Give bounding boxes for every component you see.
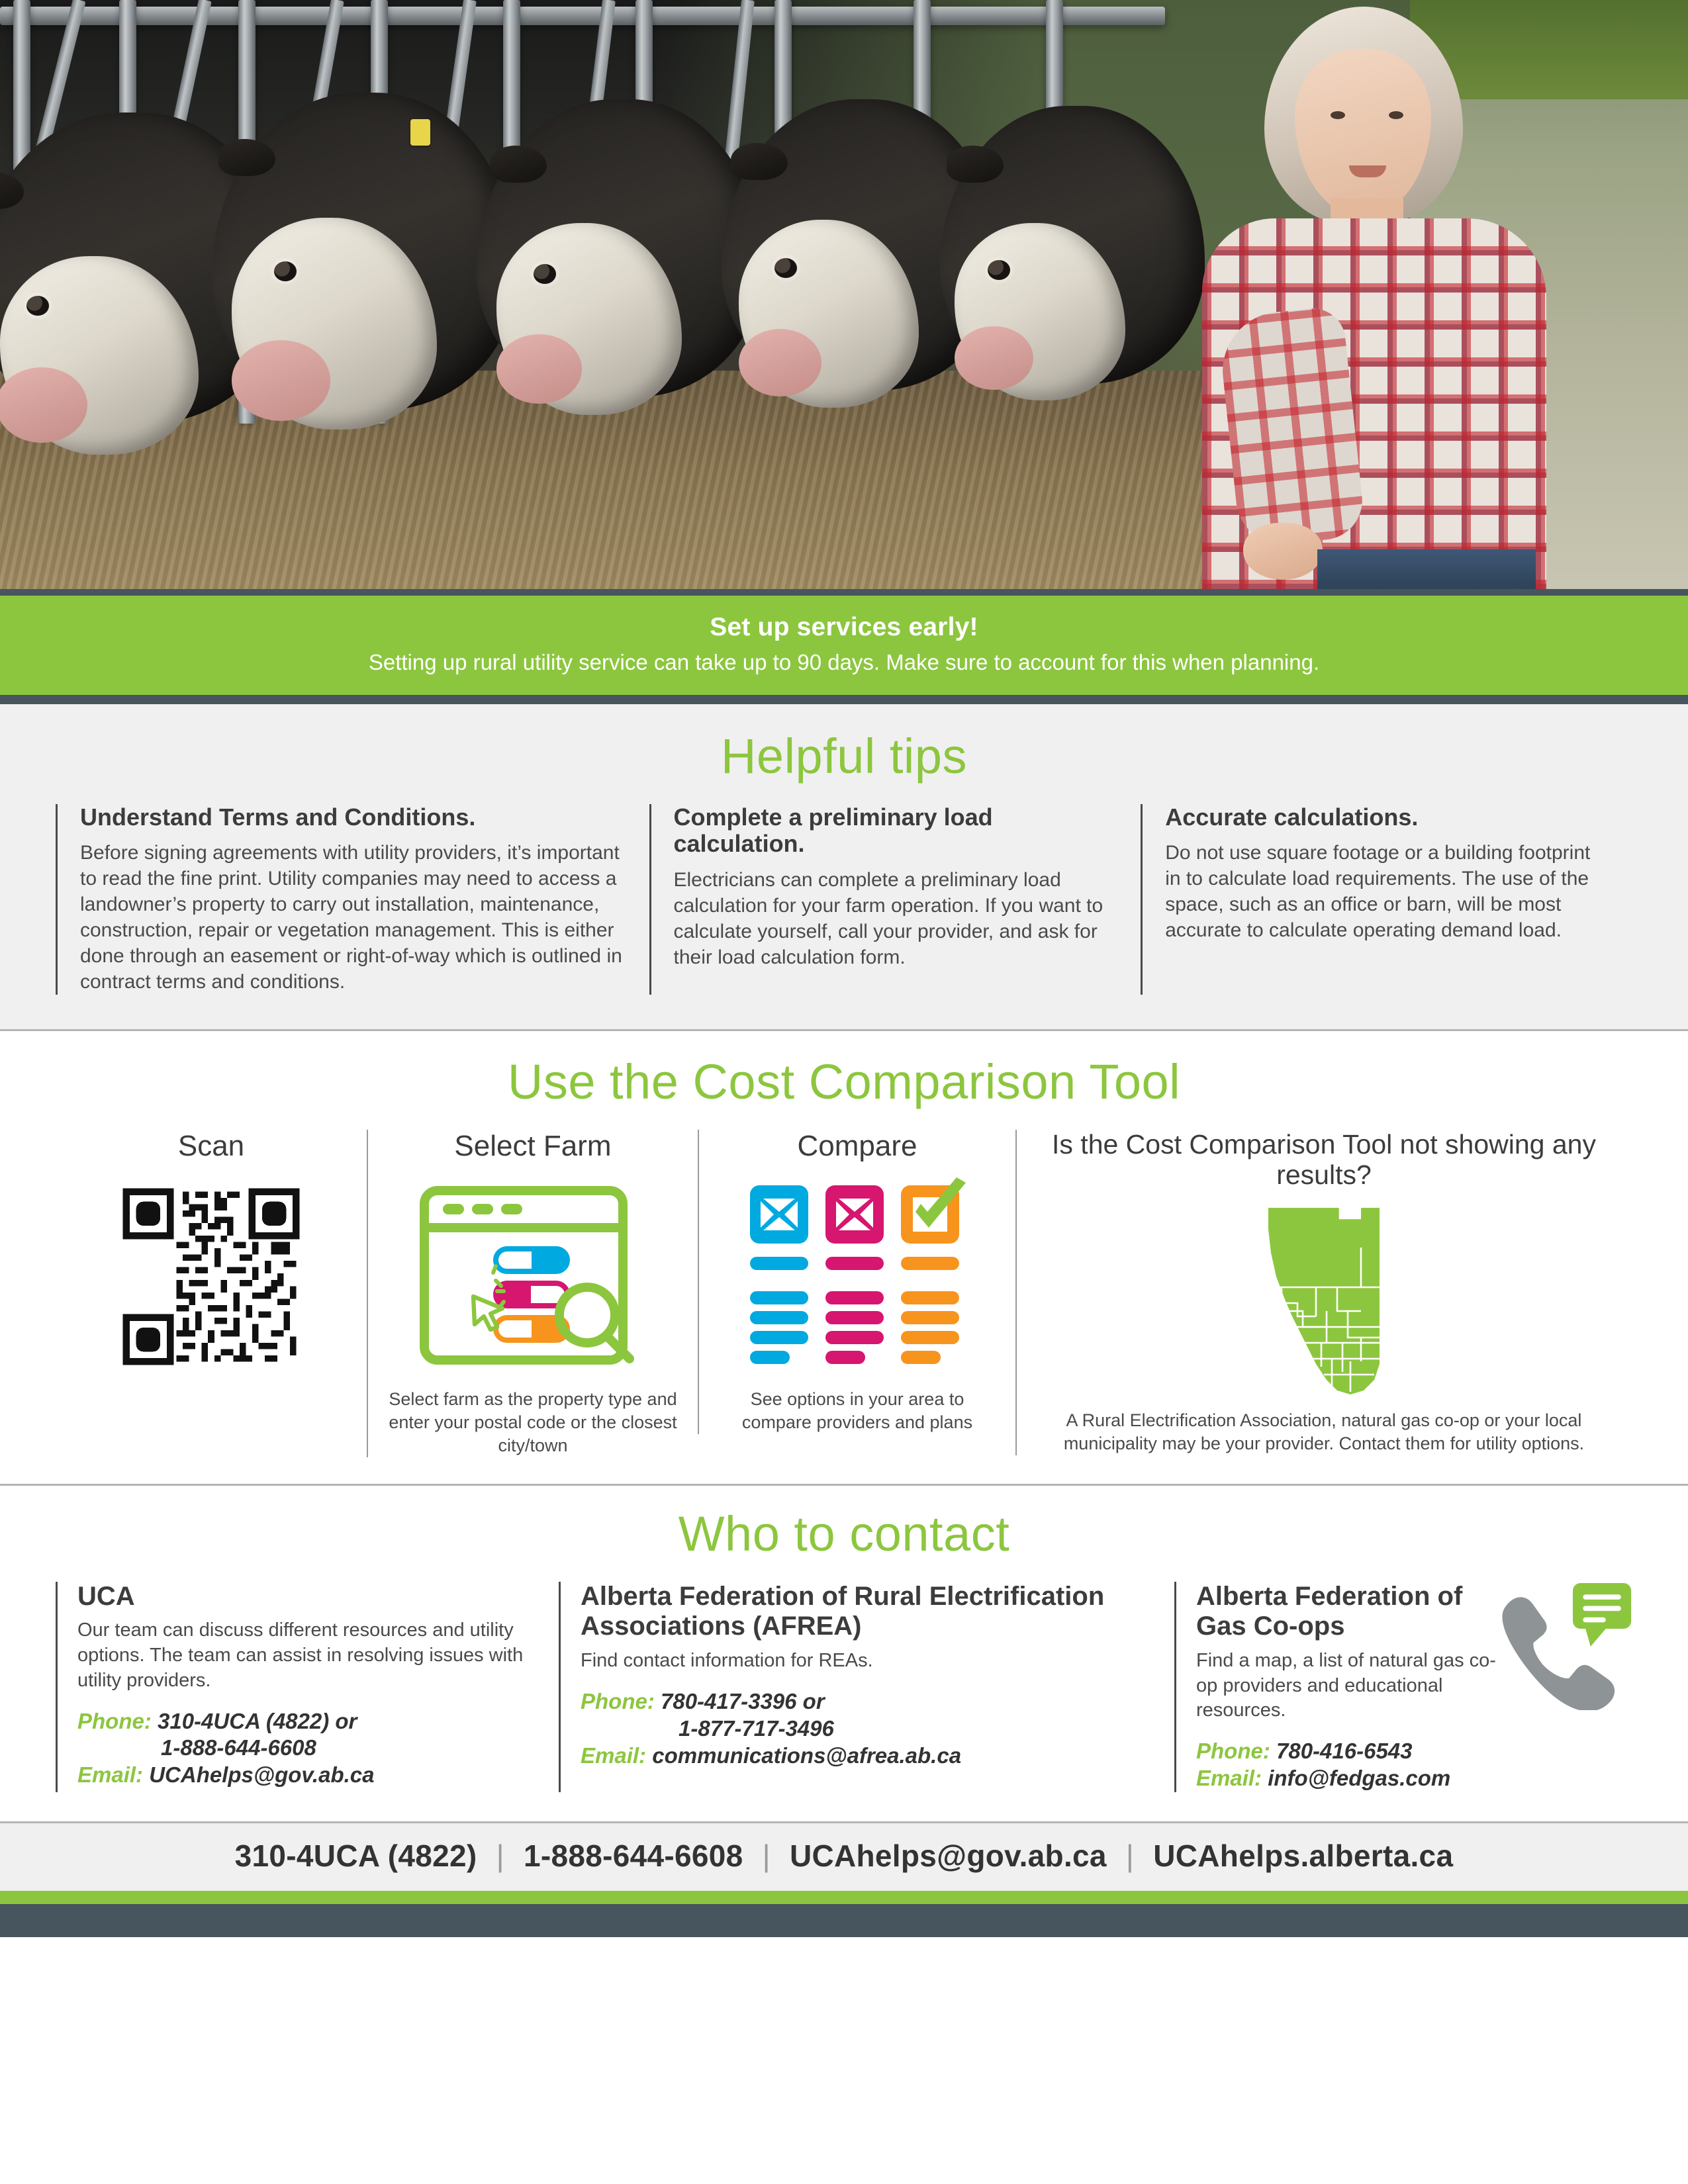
who-to-contact-title: Who to contact <box>0 1506 1688 1562</box>
email-value[interactable]: UCAhelps@gov.ab.ca <box>149 1762 374 1787</box>
eye-right <box>1389 111 1403 119</box>
footer-phone-local[interactable]: 310-4UCA (4822) <box>235 1839 477 1873</box>
step-heading: Select Farm <box>385 1130 680 1162</box>
cost-comparison-title: Use the Cost Comparison Tool <box>0 1054 1688 1110</box>
footer-email[interactable]: UCAhelps@gov.ab.ca <box>790 1839 1107 1873</box>
footer-phone-toll[interactable]: 1-888-644-6608 <box>524 1839 743 1873</box>
email-label: Email: <box>77 1762 143 1787</box>
step-no-results: Is the Cost Comparison Tool not showing … <box>1015 1130 1631 1455</box>
contact-email-line: Email: communications@afrea.ab.ca <box>581 1743 1154 1770</box>
step-caption: Select farm as the property type and ent… <box>385 1388 680 1457</box>
step-compare: Compare <box>698 1130 1015 1433</box>
contact-body: Find contact information for REAs. <box>581 1649 1154 1674</box>
email-label: Email: <box>581 1743 646 1768</box>
browser-sliders-search-icon[interactable] <box>414 1177 652 1376</box>
step-heading: Is the Cost Comparison Tool not showing … <box>1034 1130 1614 1191</box>
tip-body: Before signing agreements with utility p… <box>80 840 627 995</box>
tip-heading: Accurate calculations. <box>1165 804 1610 831</box>
helpful-tips-section: Helpful tips Understand Terms and Condit… <box>0 704 1688 1031</box>
tip-heading: Complete a preliminary load calculation. <box>674 804 1119 858</box>
contact-email-line: Email: info@fedgas.com <box>1196 1765 1611 1792</box>
contact-phone-line-2: 1-888-644-6608 <box>77 1735 539 1762</box>
step-scan: Scan <box>56 1130 367 1375</box>
callout-subtitle: Setting up rural utility service can tak… <box>40 650 1648 675</box>
tip-card-accurate-calculations: Accurate calculations. Do not use square… <box>1141 804 1632 995</box>
footer-green-stripe <box>0 1891 1688 1904</box>
tip-card-load-calculation: Complete a preliminary load calculation.… <box>649 804 1141 995</box>
step-heading: Scan <box>73 1130 350 1162</box>
step-caption: A Rural Electrification Association, nat… <box>1034 1409 1614 1455</box>
contact-body: Find a map, a list of natural gas co-op … <box>1196 1649 1507 1723</box>
helpful-tips-title: Helpful tips <box>0 728 1688 784</box>
farmer-person <box>1165 0 1589 589</box>
alberta-map-icon <box>1258 1205 1390 1397</box>
footer-dark-stripe <box>0 1904 1688 1937</box>
cow <box>212 93 516 410</box>
contact-phone-line: Phone: 780-417-3396 or <box>581 1688 1154 1715</box>
tip-heading: Understand Terms and Conditions. <box>80 804 627 831</box>
email-value[interactable]: info@fedgas.com <box>1268 1766 1450 1790</box>
phone-chat-icon <box>1481 1578 1634 1710</box>
phone-value[interactable]: 310-4UCA (4822) or <box>158 1709 357 1733</box>
step-select-farm: Select Farm <box>367 1130 698 1457</box>
jeans <box>1317 549 1536 589</box>
checkbox-comparison-icon[interactable] <box>745 1177 970 1376</box>
contact-phone-line: Phone: 310-4UCA (4822) or <box>77 1708 539 1735</box>
footer-separator: | <box>752 1839 781 1873</box>
contact-body: Our team can discuss different resources… <box>77 1618 539 1693</box>
tip-body: Electricians can complete a preliminary … <box>674 867 1119 970</box>
phone-value[interactable]: 780-416-6543 <box>1276 1739 1413 1763</box>
phone-label: Phone: <box>77 1709 152 1733</box>
eye-left <box>1331 111 1345 119</box>
phone-value-secondary[interactable]: 1-888-644-6608 <box>161 1735 316 1760</box>
hand <box>1243 523 1323 580</box>
contact-phone-line-2: 1-877-717-3496 <box>581 1715 1154 1743</box>
step-heading: Compare <box>716 1130 998 1162</box>
contact-card-gas-coops: Alberta Federation of Gas Co-ops Find a … <box>1174 1582 1631 1792</box>
qr-code-icon[interactable] <box>120 1185 303 1368</box>
phone-value-secondary[interactable]: 1-877-717-3496 <box>679 1716 834 1741</box>
footer-separator: | <box>486 1839 515 1873</box>
contact-phone-line: Phone: 780-416-6543 <box>1196 1738 1611 1765</box>
footer-separator: | <box>1115 1839 1145 1873</box>
tip-card-terms: Understand Terms and Conditions. Before … <box>56 804 649 995</box>
hero-photo <box>0 0 1688 589</box>
phone-label: Phone: <box>581 1689 655 1713</box>
callout-title: Set up services early! <box>40 613 1648 642</box>
contact-heading: Alberta Federation of Gas Co-ops <box>1196 1582 1481 1642</box>
callout-banner: Set up services early! Setting up rural … <box>0 589 1688 704</box>
who-to-contact-section: Who to contact UCA Our team can discuss … <box>0 1486 1688 1821</box>
contact-heading: UCA <box>77 1582 539 1612</box>
contact-heading: Alberta Federation of Rural Electrificat… <box>581 1582 1154 1642</box>
email-value[interactable]: communications@afrea.ab.ca <box>652 1743 961 1768</box>
footer-contact-bar: 310-4UCA (4822) | 1-888-644-6608 | UCAhe… <box>0 1823 1688 1891</box>
arm <box>1217 305 1366 549</box>
cost-comparison-tool-section: Use the Cost Comparison Tool Scan <box>0 1031 1688 1486</box>
contact-email-line: Email: UCAhelps@gov.ab.ca <box>77 1762 539 1789</box>
footer-website[interactable]: UCAhelps.alberta.ca <box>1153 1839 1453 1873</box>
contact-card-afrea: Alberta Federation of Rural Electrificat… <box>559 1582 1174 1792</box>
step-caption: See options in your area to compare prov… <box>716 1388 998 1434</box>
email-label: Email: <box>1196 1766 1262 1790</box>
contact-card-uca: UCA Our team can discuss different resou… <box>56 1582 559 1792</box>
tip-body: Do not use square footage or a building … <box>1165 840 1610 943</box>
phone-label: Phone: <box>1196 1739 1270 1763</box>
phone-value[interactable]: 780-417-3396 or <box>661 1689 825 1713</box>
infographic-page: Set up services early! Setting up rural … <box>0 0 1688 1937</box>
